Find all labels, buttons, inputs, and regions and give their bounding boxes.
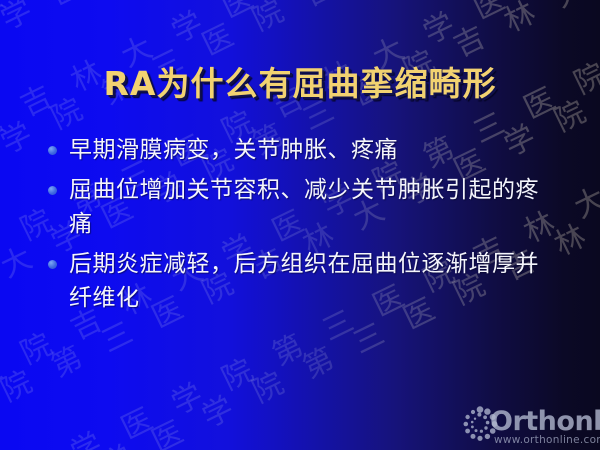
bullet-item-text: 早期滑膜病变，关节肿胀、疼痛 [69,133,556,167]
bullet-point-icon [48,186,57,195]
orthonline-logo-url: www.orthonline.com.cn [494,434,600,446]
bullet-point-icon [48,146,57,155]
bullet-item: 后期炎症减轻，后方组织在屈曲位逐渐增厚并纤维化 [48,247,556,315]
orthonline-logo-text: Orthonline [490,406,600,437]
slide-bullet-list: 早期滑膜病变，关节肿胀、疼痛 屈曲位增加关节容积、减少关节肿胀引起的疼痛 后期炎… [48,133,556,321]
bullet-item-text: 屈曲位增加关节容积、减少关节肿胀引起的疼痛 [69,173,556,241]
watermark-text-row: 医学院第三医院吉林大学医学院第三医院吉 [0,0,600,9]
orthonline-watermark-logo: Orthonline www.orthonline.com.cn [448,401,598,447]
spiral-logo-icon [462,406,498,442]
presentation-slide: 第三医院吉林大学医学院第三医院吉林大学医学院第三医院吉林大学医学院第三医院吉大学… [0,0,600,450]
bullet-item: 屈曲位增加关节容积、减少关节肿胀引起的疼痛 [48,173,556,241]
bullet-item-text: 后期炎症减轻，后方组织在屈曲位逐渐增厚并纤维化 [69,247,556,315]
slide-title: RA为什么有屈曲挛缩畸形 [0,57,600,105]
bullet-item: 早期滑膜病变，关节肿胀、疼痛 [48,133,556,167]
bullet-point-icon [48,260,57,269]
watermark-text-row: 医学院第三医院吉林大学医学院第三医院吉 [0,0,600,9]
